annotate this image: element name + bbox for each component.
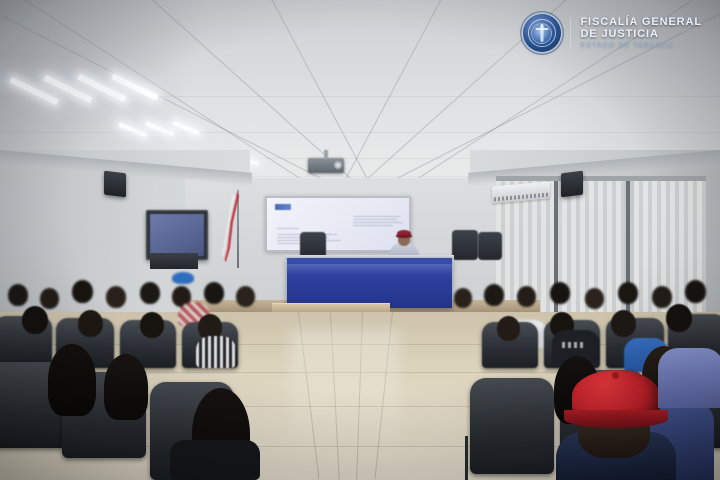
watermark-line-2: DE JUSTICIA	[580, 28, 702, 41]
national-flag	[222, 192, 240, 264]
shirt-print-text	[562, 342, 586, 348]
attendee-long-hair	[48, 344, 96, 416]
watermark-divider	[570, 18, 572, 49]
floor-reflection	[290, 330, 400, 480]
seal-figure-icon	[540, 24, 543, 42]
projector-lens-icon	[334, 161, 342, 169]
red-cap-brim	[564, 410, 668, 428]
monitor-screen	[150, 214, 204, 256]
stage-chair-right	[452, 230, 478, 260]
presenter-table	[287, 258, 452, 308]
watermark-line-3: ESTADO DE TABASCO	[580, 42, 702, 50]
projector-mount	[324, 150, 328, 159]
flag-icon	[222, 192, 240, 264]
institutional-seal-icon	[523, 14, 561, 52]
stage-chair-right-2	[478, 232, 502, 260]
monitor-stand	[150, 253, 198, 269]
attendee-blue-cap	[172, 272, 194, 284]
presenter-cap-brim	[396, 235, 412, 238]
wall-speaker-left	[104, 171, 126, 198]
attendee-lavender	[658, 348, 720, 408]
red-cap-button	[612, 372, 619, 379]
ceiling-projector	[308, 158, 344, 173]
wall-speaker-right	[561, 171, 583, 198]
fiscalia-watermark[interactable]: FISCALÍA GENERAL DE JUSTICIA ESTADO DE T…	[523, 14, 702, 52]
attendee-striped-shirt	[196, 336, 236, 368]
slide-logo	[275, 204, 291, 210]
attendee-red-cap	[564, 370, 672, 480]
watermark-text: FISCALÍA GENERAL DE JUSTICIA ESTADO DE T…	[580, 16, 702, 51]
seal-scales-icon	[535, 28, 548, 30]
watermark-line-1: FISCALÍA GENERAL	[580, 16, 702, 29]
photo-canvas: FISCALÍA GENERAL DE JUSTICIA ESTADO DE T…	[0, 0, 720, 480]
table-highlight	[287, 264, 452, 274]
